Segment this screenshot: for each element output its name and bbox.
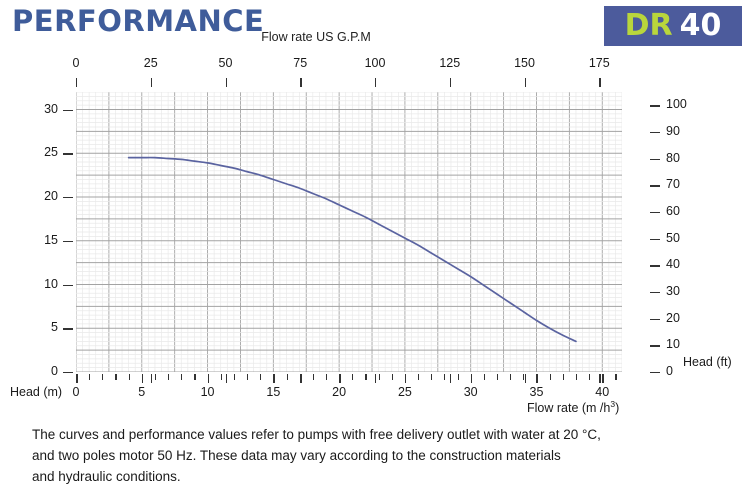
left-tick-label: 25: [28, 145, 58, 159]
bottom-axis-title-suffix: ): [615, 401, 619, 415]
bottom-tick-mark: [168, 374, 169, 380]
right-tick-mark: [650, 185, 660, 186]
bottom-tick-mark: [339, 374, 341, 383]
left-tick-label: 0: [28, 364, 58, 378]
left-tick-mark: [63, 197, 73, 198]
bottom-tick-mark: [615, 374, 616, 380]
top-tick-mark: [76, 78, 77, 87]
bottom-tick-mark: [326, 374, 327, 380]
left-tick-mark: [63, 285, 73, 286]
caption-block: The curves and performance values refer …: [32, 424, 722, 487]
right-tick-mark: [650, 132, 660, 133]
right-tick-mark: [650, 345, 660, 346]
top-tick-label: 0: [62, 56, 90, 70]
top-tick-label: 75: [286, 56, 314, 70]
top-tick-label: 175: [585, 56, 613, 70]
bottom-tick-mark: [550, 374, 551, 380]
performance-chart-sheet: PERFORMANCE DR 40 Flow rate US G.P.M 025…: [0, 0, 752, 500]
right-tick-label: 30: [666, 284, 680, 298]
bottom-tick-mark: [563, 374, 564, 380]
right-tick-mark: [650, 265, 660, 266]
left-tick-label: 20: [28, 189, 58, 203]
right-tick-label: 100: [666, 97, 687, 111]
right-tick-mark: [650, 292, 660, 293]
top-tick-mark: [525, 78, 526, 87]
top-tick-label: 100: [361, 56, 389, 70]
bottom-tick-mark: [484, 374, 485, 380]
bottom-tick-mark: [431, 374, 432, 380]
right-tick-mark: [650, 159, 660, 160]
top-tick-mark: [599, 78, 600, 87]
bottom-tick-mark: [89, 374, 90, 380]
bottom-tick-mark: [497, 374, 498, 380]
bottom-tick-label: 20: [325, 385, 353, 399]
bottom-axis-title-prefix: Flow rate (m /h: [527, 401, 610, 415]
left-tick-mark: [63, 372, 73, 373]
bottom-tick-mark: [221, 374, 222, 380]
right-tick-label: 70: [666, 177, 680, 191]
bottom-gpm-tick-mark: [375, 374, 376, 383]
top-tick-label: 150: [511, 56, 539, 70]
right-tick-label: 40: [666, 257, 680, 271]
top-tick-label: 50: [212, 56, 240, 70]
bottom-tick-label: 30: [457, 385, 485, 399]
bottom-tick-mark: [379, 374, 380, 380]
bottom-tick-label: 5: [128, 385, 156, 399]
bottom-gpm-tick-mark: [226, 374, 227, 383]
left-tick-mark: [63, 110, 73, 111]
right-tick-label: 0: [666, 364, 673, 378]
bottom-tick-label: 0: [62, 385, 90, 399]
top-tick-mark: [226, 78, 227, 87]
bottom-tick-mark: [287, 374, 288, 380]
right-tick-label: 60: [666, 204, 680, 218]
bottom-tick-mark: [313, 374, 314, 380]
right-tick-mark: [650, 372, 660, 373]
bottom-tick-mark: [155, 374, 156, 380]
bottom-gpm-tick-mark: [525, 374, 526, 383]
bottom-tick-mark: [444, 374, 445, 380]
bottom-tick-mark: [510, 374, 511, 380]
plot-area: [76, 92, 622, 372]
bottom-tick-mark: [247, 374, 248, 380]
bottom-tick-label: 25: [391, 385, 419, 399]
right-tick-mark: [650, 239, 660, 240]
bottom-tick-mark: [102, 374, 103, 380]
right-tick-label: 10: [666, 337, 680, 351]
bottom-tick-mark: [115, 374, 116, 380]
bottom-tick-mark: [234, 374, 235, 380]
bottom-tick-mark: [576, 374, 577, 380]
bottom-tick-mark: [405, 374, 407, 383]
bottom-tick-label: 10: [194, 385, 222, 399]
right-tick-mark: [650, 105, 660, 106]
right-tick-mark: [650, 212, 660, 213]
top-tick-label: 25: [137, 56, 165, 70]
bottom-tick-mark: [589, 374, 590, 380]
bottom-tick-mark: [260, 374, 261, 380]
caption-line-3: and hydraulic conditions.: [32, 466, 722, 487]
bottom-tick-mark: [352, 374, 353, 380]
caption-line-1: The curves and performance values refer …: [32, 424, 722, 445]
bottom-tick-mark: [536, 374, 538, 383]
bottom-gpm-tick-mark: [599, 374, 600, 383]
top-tick-mark: [375, 78, 376, 87]
curve-layer: [76, 92, 622, 372]
bottom-tick-label: 40: [588, 385, 616, 399]
bottom-tick-mark: [392, 374, 393, 380]
right-tick-label: 20: [666, 311, 680, 325]
top-axis-title-text: Flow rate US G.P.M: [261, 30, 371, 44]
bottom-tick-mark: [273, 374, 275, 383]
caption-line-2: and two poles motor 50 Hz. These data ma…: [32, 445, 722, 466]
left-tick-mark: [63, 241, 73, 242]
top-axis-title: Flow rate US G.P.M: [0, 30, 752, 44]
left-axis-title: Head (m): [10, 385, 62, 399]
top-tick-mark: [151, 78, 152, 87]
bottom-tick-mark: [365, 374, 366, 380]
bottom-tick-label: 35: [522, 385, 550, 399]
right-tick-mark: [650, 319, 660, 320]
bottom-tick-mark: [418, 374, 419, 380]
left-tick-mark: [63, 328, 73, 329]
bottom-gpm-tick-mark: [151, 374, 152, 383]
bottom-axis-title: Flow rate (m /h3): [527, 399, 619, 415]
bottom-tick-mark: [208, 374, 210, 383]
right-axis-title: Head (ft): [683, 355, 732, 369]
top-tick-label: 125: [436, 56, 464, 70]
bottom-tick-label: 15: [259, 385, 287, 399]
top-tick-mark: [300, 78, 301, 87]
right-tick-label: 50: [666, 231, 680, 245]
bottom-tick-mark: [181, 374, 182, 380]
top-tick-mark: [450, 78, 451, 87]
bottom-tick-mark: [129, 374, 130, 380]
left-tick-label: 30: [28, 102, 58, 116]
left-tick-label: 5: [28, 320, 58, 334]
bottom-gpm-tick-mark: [76, 374, 77, 383]
bottom-tick-mark: [471, 374, 473, 383]
bottom-tick-mark: [458, 374, 459, 380]
right-tick-label: 80: [666, 151, 680, 165]
left-tick-label: 10: [28, 277, 58, 291]
left-tick-mark: [63, 153, 73, 154]
bottom-gpm-tick-mark: [300, 374, 301, 383]
bottom-tick-mark: [194, 374, 195, 380]
left-tick-label: 15: [28, 233, 58, 247]
bottom-tick-mark: [142, 374, 144, 383]
right-tick-label: 90: [666, 124, 680, 138]
bottom-gpm-tick-mark: [450, 374, 451, 383]
bottom-tick-mark: [602, 374, 604, 383]
